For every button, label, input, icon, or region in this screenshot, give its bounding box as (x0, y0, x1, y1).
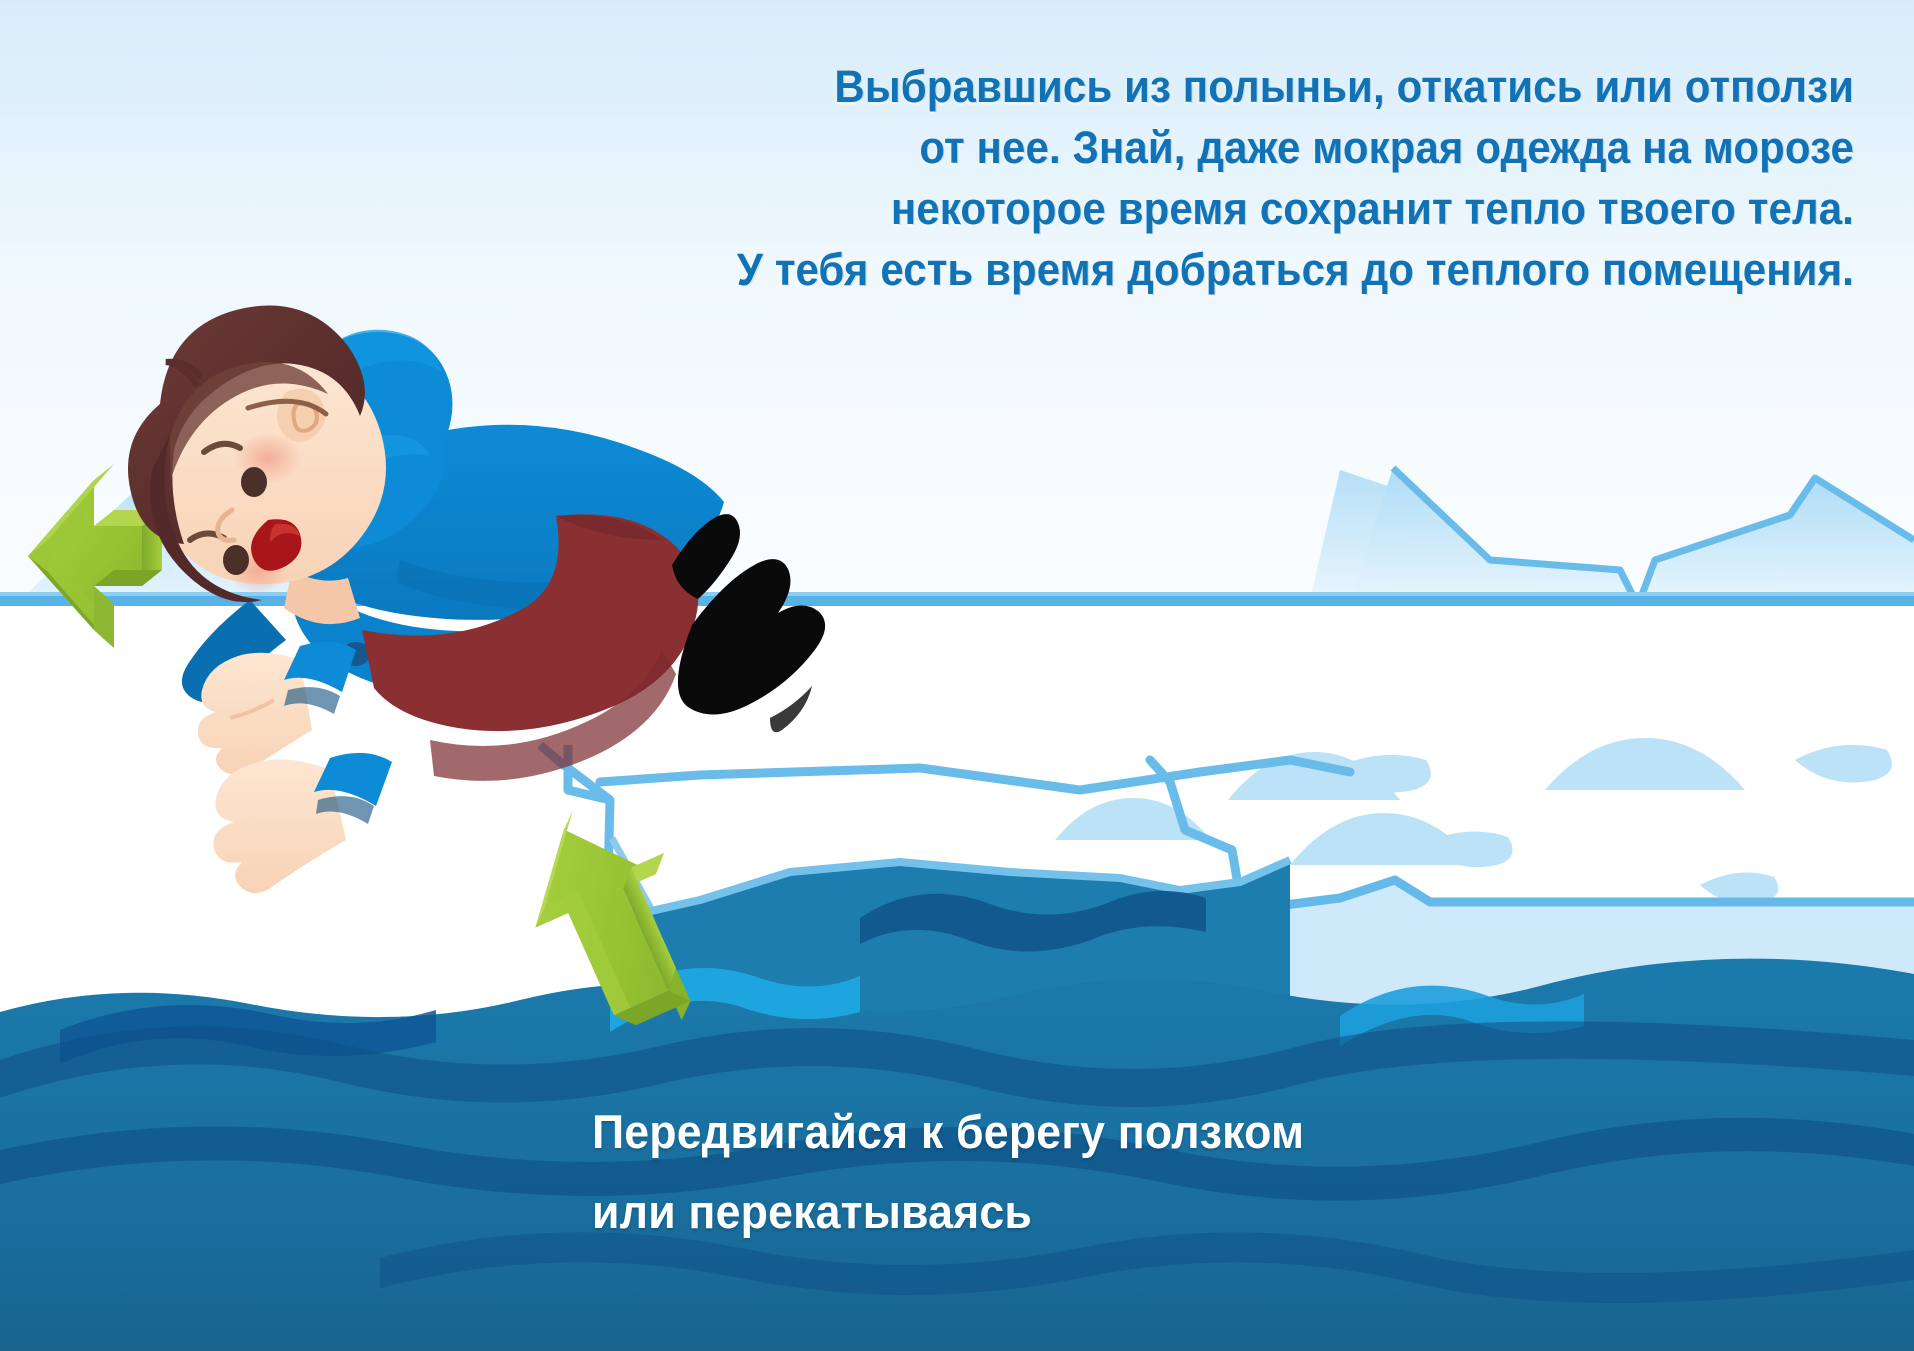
safety-infographic-poster: Выбравшись из полыньи, откатись или отпо… (0, 0, 1914, 1351)
ice-safety-illustration (0, 0, 1914, 1351)
